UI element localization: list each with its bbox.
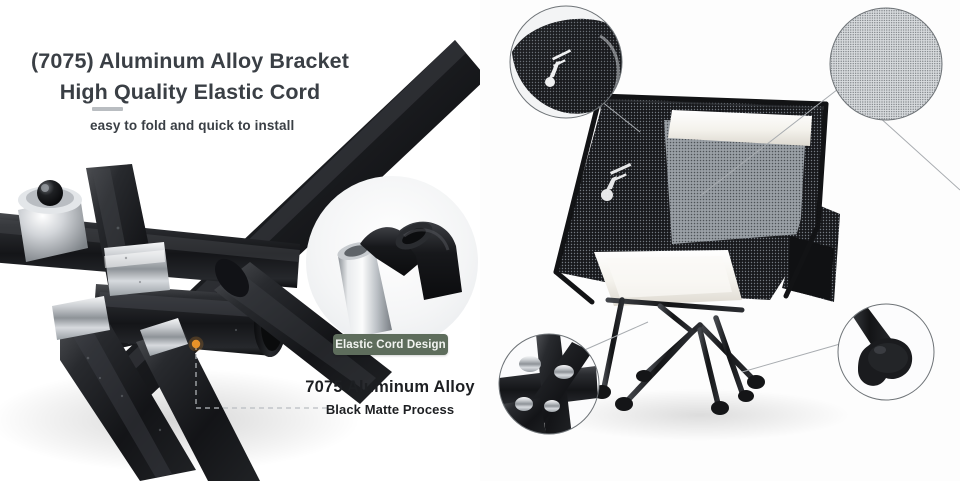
- elastic-cord-badge: Elastic Cord Design: [333, 334, 448, 355]
- infographic-canvas: (7075) Aluminum Alloy Bracket High Quali…: [0, 0, 960, 481]
- right-panel: Excellent Strength Abrasion Resistance W…: [480, 0, 960, 481]
- frame-joint-detail-circle: [499, 334, 599, 440]
- subheadline: easy to fold and quick to install: [90, 118, 390, 133]
- headline-line-1: (7075) Aluminum Alloy Bracket: [31, 49, 349, 73]
- left-panel: (7075) Aluminum Alloy Bracket High Quali…: [0, 0, 480, 481]
- accent-dot: [192, 340, 200, 348]
- alloy-title: 7075 Aluminum Alloy: [300, 378, 480, 397]
- headline-line-2: High Quality Elastic Cord: [0, 77, 380, 108]
- chair-brand-logo: [601, 163, 631, 201]
- fabric-pouch-detail-circle: [505, 0, 630, 125]
- title-divider: [92, 107, 123, 111]
- anti-slip-foot-detail-circle: [838, 300, 934, 400]
- page-title: (7075) Aluminum Alloy Bracket High Quali…: [0, 46, 380, 108]
- alloy-subtitle: Black Matte Process: [300, 402, 480, 417]
- alloy-caption: 7075 Aluminum Alloy Black Matte Process: [300, 378, 480, 417]
- nylon-mesh-detail-circle: [830, 8, 942, 120]
